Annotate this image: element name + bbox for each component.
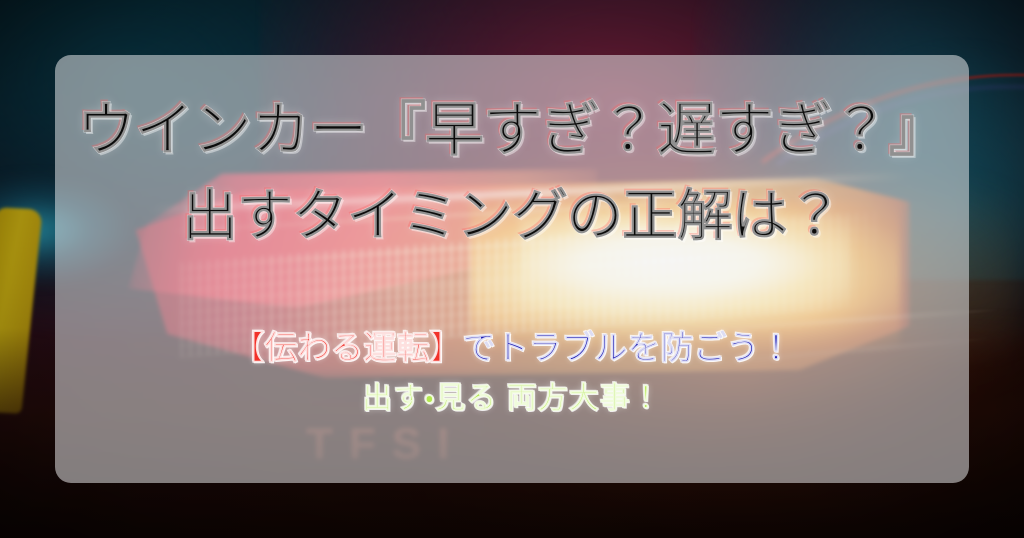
subhead-emphasis-red: 【伝わる運転】 bbox=[232, 329, 463, 366]
subhead-emphasis-blue: でトラブルを防ごう！ bbox=[463, 329, 793, 366]
subhead-line-1: 【伝わる運転】でトラブルを防ごう！ bbox=[0, 331, 1024, 364]
subhead-line-2: 出す・見る 両方大事！ bbox=[0, 384, 1024, 414]
headline-line-1: ウインカー『早すぎ？遅すぎ？』 bbox=[0, 101, 1024, 160]
headline-line-2: 出すタイミングの正解は？ bbox=[0, 188, 1024, 244]
text-block: ウインカー『早すぎ？遅すぎ？』 出すタイミングの正解は？ 【伝わる運転】でトラブ… bbox=[0, 0, 1024, 538]
thumbnail-canvas: TFSI ウインカー『早すぎ？遅すぎ？』 出すタイミングの正解は？ 【伝わる運転… bbox=[0, 0, 1024, 538]
